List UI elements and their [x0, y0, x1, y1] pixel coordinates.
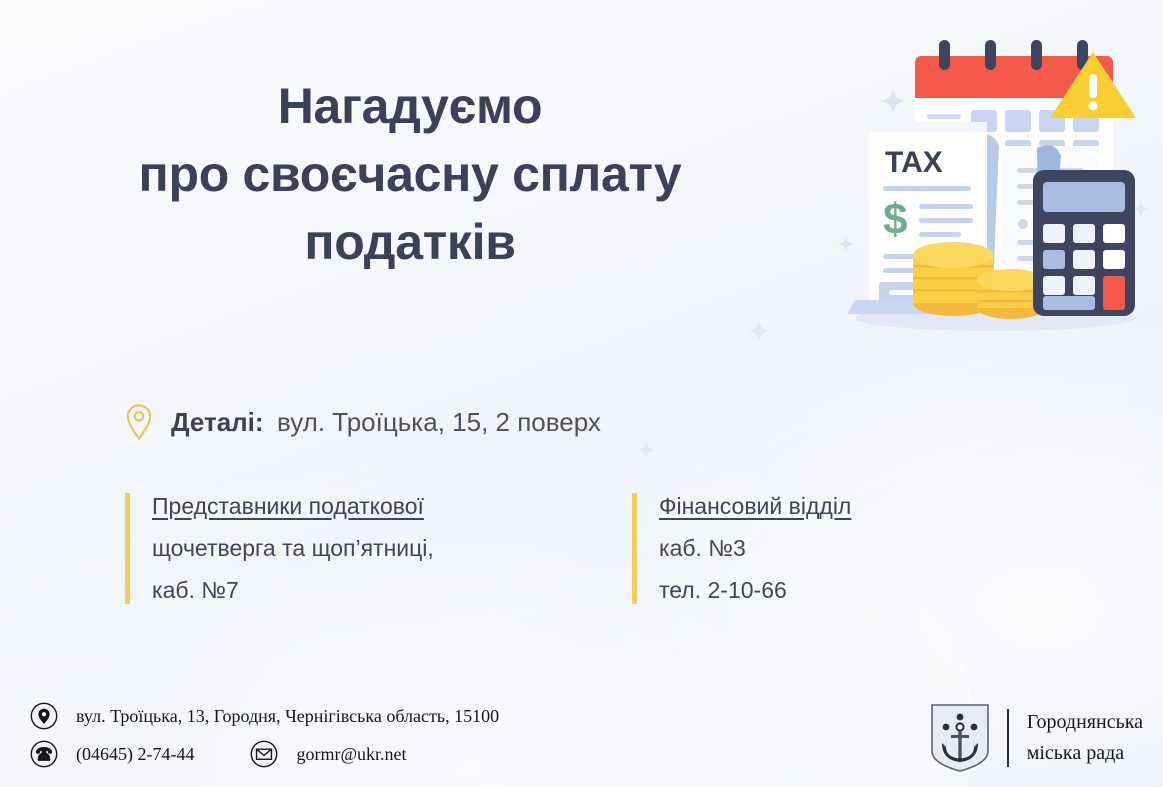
logo-text-line-1: Городнянська [1027, 707, 1143, 738]
details-label: Деталі: [171, 407, 264, 437]
telephone-icon [30, 740, 58, 768]
location-pin-icon [124, 403, 154, 441]
column-line: каб. №7 [152, 577, 434, 604]
sparkle-icon [636, 440, 656, 460]
column-title: Представники податкової [152, 493, 434, 520]
column-title: Фінансовий відділ [659, 493, 851, 520]
footer-contacts: вул. Троїцька, 13, Городня, Чернігівська… [30, 697, 499, 773]
column-line: щочетверга та щоп’ятниці, [152, 535, 434, 562]
logo-text-line-2: міська рада [1027, 738, 1143, 769]
page-title: Нагадуємо про своєчасну сплату податків [0, 72, 820, 276]
info-column-tax-office: Представники податкової щочетверга та що… [125, 493, 434, 604]
logo-text: Городнянська міська рада [1027, 707, 1143, 769]
footer-email-text: gormr@ukr.net [296, 744, 406, 765]
poster-canvas: Нагадуємо про своєчасну сплату податків [0, 0, 1163, 787]
headline-line-3: податків [0, 208, 820, 276]
details-value: вул. Троїцька, 15, 2 поверх [277, 407, 601, 437]
info-column-finance-department: Фінансовий відділ каб. №3 тел. 2-10-66 [632, 493, 851, 604]
location-pin-icon [30, 702, 58, 730]
column-line: тел. 2-10-66 [659, 577, 851, 604]
footer-phone-email-row: (04645) 2-74-44 gormr@ukr.net [30, 735, 499, 773]
tax-illustration: TAX $ [827, 18, 1157, 348]
svg-text:$: $ [883, 195, 907, 244]
column-line: каб. №3 [659, 535, 851, 562]
envelope-icon [250, 740, 278, 768]
headline-line-1: Нагадуємо [0, 72, 820, 140]
footer: вул. Троїцька, 13, Городня, Чернігівська… [0, 683, 1163, 787]
footer-logo: Городнянська міська рада [929, 703, 1143, 773]
details-row: Деталі: вул. Троїцька, 15, 2 поверх [124, 403, 601, 441]
logo-divider [1007, 709, 1009, 767]
svg-text:TAX: TAX [885, 146, 943, 179]
headline-line-2: про своєчасну сплату [0, 140, 820, 208]
footer-address-text: вул. Троїцька, 13, Городня, Чернігівська… [76, 706, 499, 727]
anchor-coat-of-arms-icon [929, 703, 991, 773]
footer-address-row: вул. Троїцька, 13, Городня, Чернігівська… [30, 697, 499, 735]
sparkle-icon [748, 320, 770, 342]
footer-phone-text: (04645) 2-74-44 [76, 744, 194, 765]
